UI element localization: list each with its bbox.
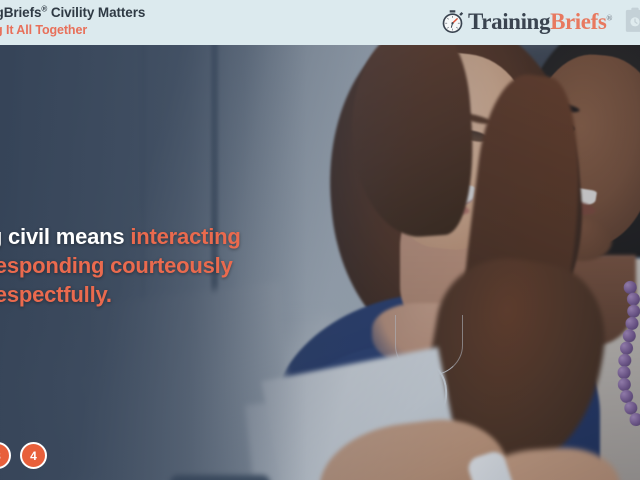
slide-container: Being civil means interacting and respon… bbox=[0, 0, 640, 480]
stopwatch-icon bbox=[439, 8, 466, 35]
page-title-text: TrainingBriefs bbox=[0, 5, 41, 20]
page-title-suffix: Civility Matters bbox=[47, 5, 145, 20]
clipboard-watermark-icon bbox=[624, 7, 640, 33]
slide-headline: Being civil means interacting and respon… bbox=[0, 222, 241, 309]
logo-word-briefs: Briefs bbox=[550, 9, 606, 34]
logo-registered-mark: ® bbox=[606, 13, 612, 22]
headline-line-2: and responding courteously bbox=[0, 251, 241, 280]
pagination-dot-4[interactable]: 4 bbox=[20, 442, 47, 469]
headline-line-1: Being civil means interacting bbox=[0, 222, 241, 251]
trainingbriefs-logo[interactable]: TrainingBriefs® bbox=[439, 5, 612, 37]
headline-line-3: and respectfully. bbox=[0, 280, 241, 309]
pagination-dot-3[interactable]: 3 bbox=[0, 442, 11, 469]
header-bar: TrainingBriefs® Civility Matters Bringin… bbox=[0, 0, 640, 45]
page-title: TrainingBriefs® Civility Matters bbox=[0, 4, 145, 21]
headline-line-1-white: Being civil means bbox=[0, 224, 130, 249]
logo-wordmark: TrainingBriefs® bbox=[468, 8, 612, 35]
page-subtitle: Bringing It All Together bbox=[0, 22, 145, 38]
pagination[interactable]: 3 4 bbox=[0, 442, 47, 469]
headline-line-1-accent: interacting bbox=[130, 224, 240, 249]
header-title-group: TrainingBriefs® Civility Matters Bringin… bbox=[0, 4, 145, 38]
logo-word-training: Training bbox=[468, 9, 550, 34]
